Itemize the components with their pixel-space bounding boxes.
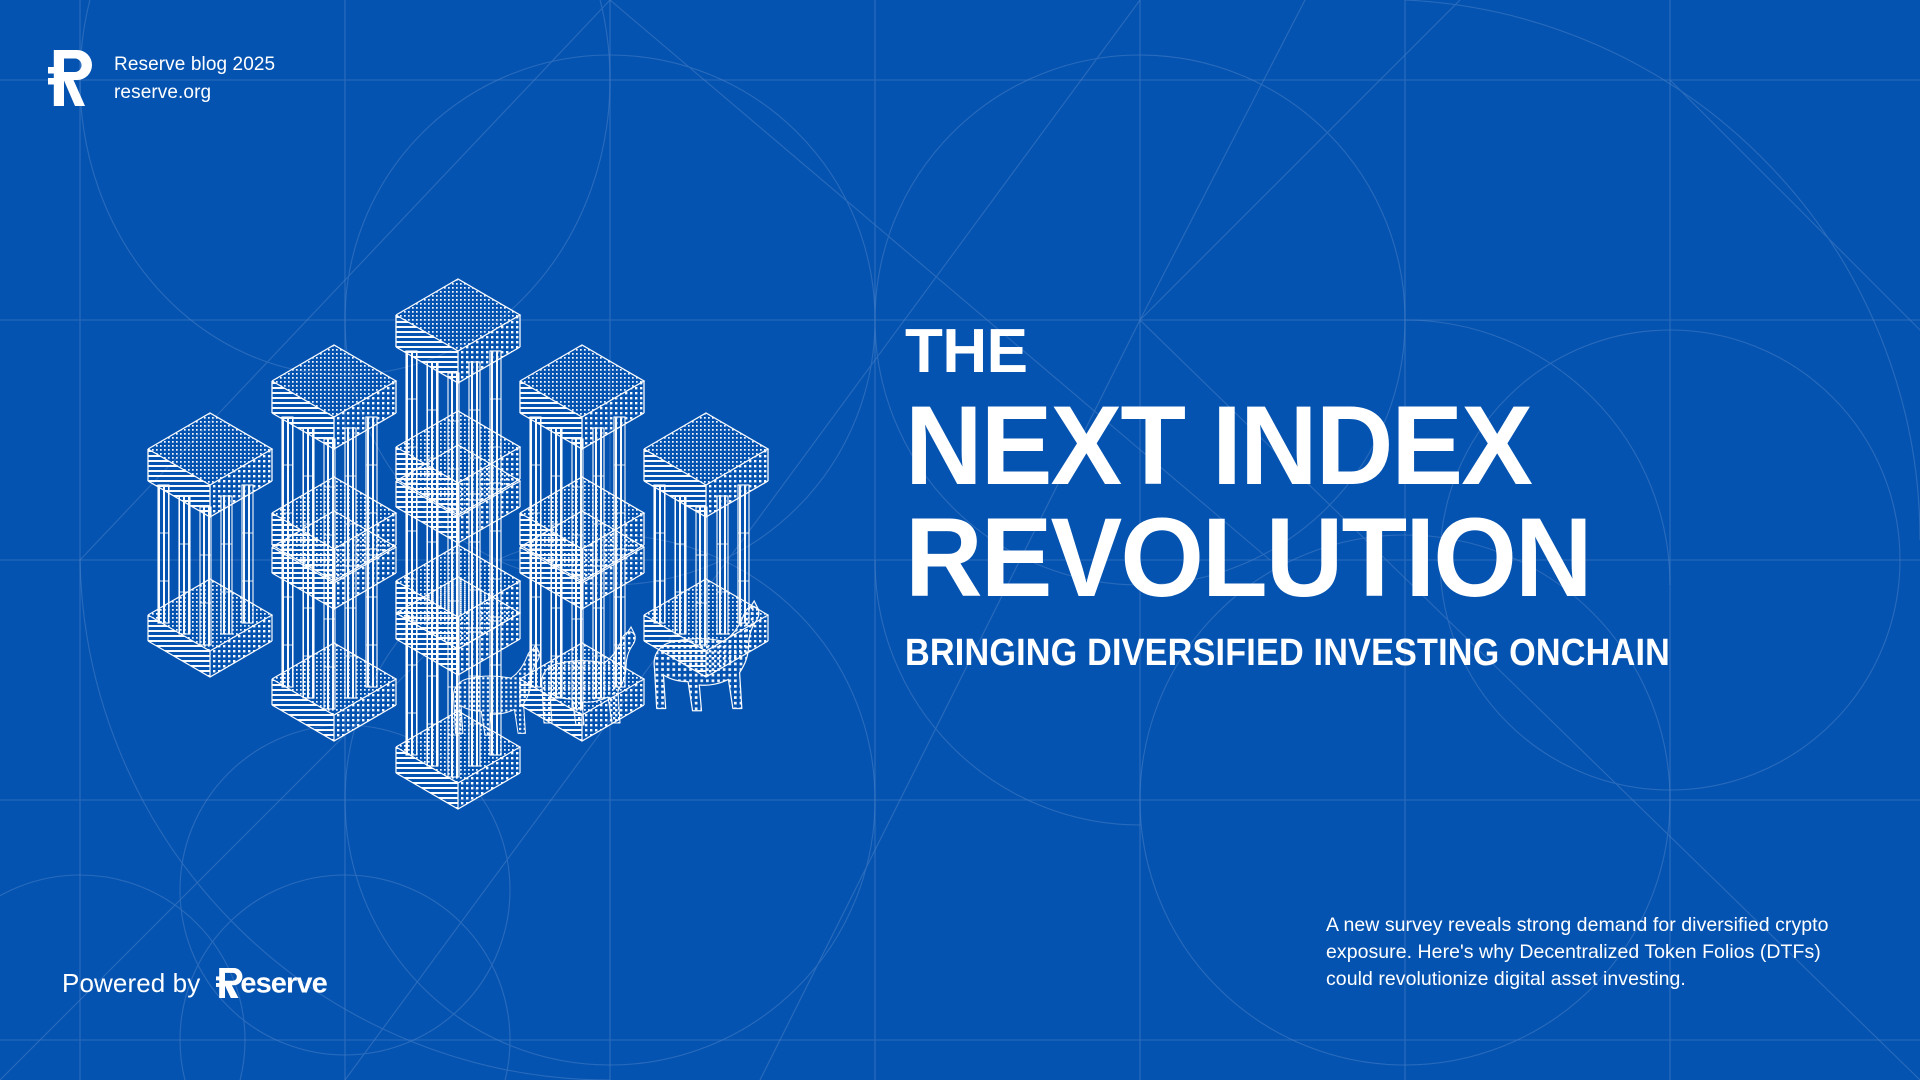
headline-title-line-1: NEXT INDEX	[905, 394, 1817, 498]
brand-block[interactable]: Reserve blog 2025 reserve.org	[48, 48, 275, 106]
headline-kicker: THE	[905, 326, 1855, 378]
brand-line-blog-year: Reserve blog 2025	[114, 54, 275, 75]
brand-text-lines: Reserve blog 2025 reserve.org	[114, 48, 275, 103]
headline-title-line-2: REVOLUTION	[905, 506, 1817, 610]
powered-by-footer: Powered by eserve	[62, 968, 378, 998]
svg-text:eserve: eserve	[241, 968, 328, 998]
reserve-wordmark-icon[interactable]: eserve	[216, 968, 377, 998]
reserve-r-logo-icon	[48, 50, 92, 106]
isometric-wireframe-temples-illustration	[120, 215, 800, 855]
headline-tagline: BRINGING DIVERSIFIED INVESTING ONCHAIN	[905, 634, 1760, 672]
brand-line-website[interactable]: reserve.org	[114, 82, 275, 103]
headline-block: THE NEXT INDEX REVOLUTION BRINGING DIVER…	[905, 326, 1855, 672]
powered-by-label: Powered by	[62, 969, 200, 997]
description-paragraph: A new survey reveals strong demand for d…	[1326, 912, 1856, 993]
poster-canvas: Reserve blog 2025 reserve.org	[0, 0, 1920, 1080]
